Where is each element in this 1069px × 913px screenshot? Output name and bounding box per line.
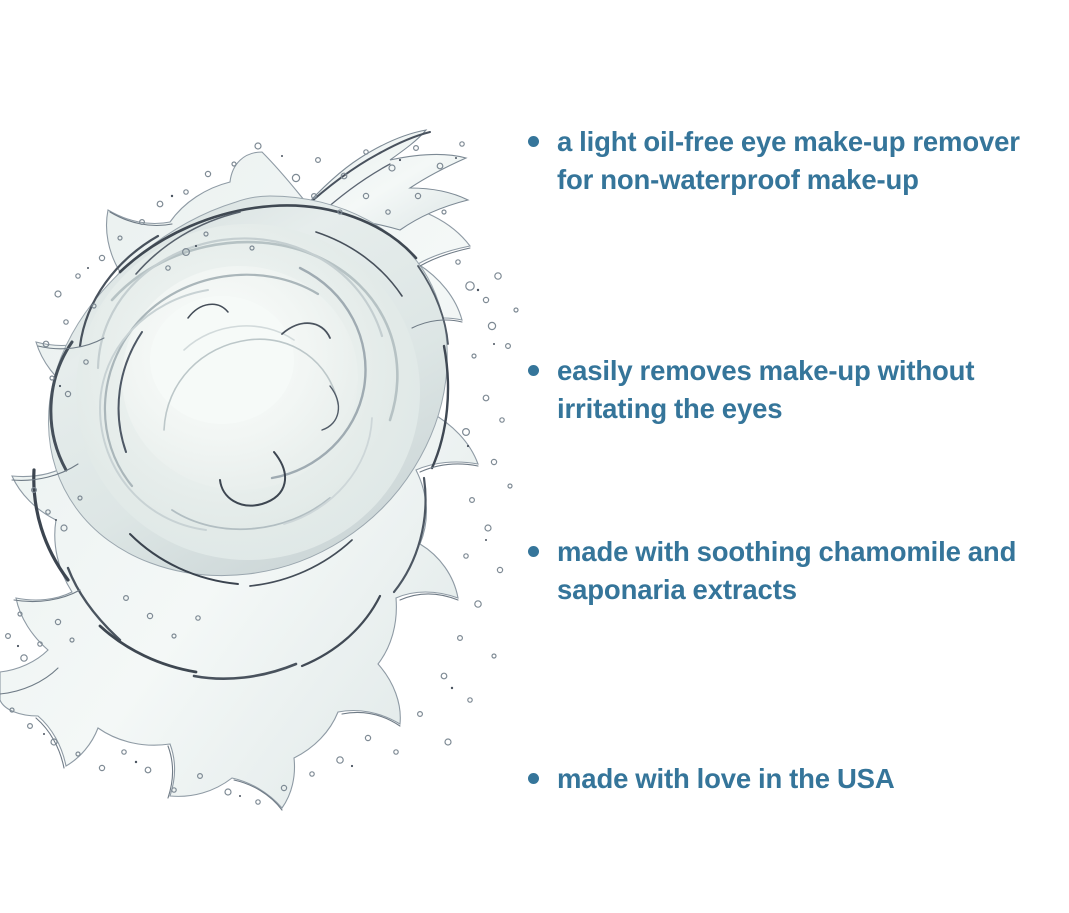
benefit-text: easily removes make-up without irritatin… bbox=[557, 352, 1048, 428]
benefit-text: made with love in the USA bbox=[557, 760, 1048, 798]
benefit-text: a light oil-free eye make-up remover for… bbox=[557, 123, 1048, 199]
list-item: made with soothing chamomile and saponar… bbox=[528, 533, 1048, 609]
water-splash-panel bbox=[0, 0, 535, 913]
product-feature-graphic: a light oil-free eye make-up remover for… bbox=[0, 0, 1069, 913]
splash-pool-center-highlight bbox=[150, 296, 294, 424]
bullet-dot-icon bbox=[528, 365, 539, 376]
list-item: a light oil-free eye make-up remover for… bbox=[528, 123, 1048, 199]
bullet-dot-icon bbox=[528, 773, 539, 784]
benefits-list: a light oil-free eye make-up remover for… bbox=[528, 0, 1069, 913]
bullet-dot-icon bbox=[528, 136, 539, 147]
bullet-dot-icon bbox=[528, 546, 539, 557]
water-splash-image bbox=[0, 0, 535, 913]
benefit-text: made with soothing chamomile and saponar… bbox=[557, 533, 1048, 609]
list-item: made with love in the USA bbox=[528, 760, 1048, 798]
splash-crown-body bbox=[0, 130, 478, 808]
list-item: easily removes make-up without irritatin… bbox=[528, 352, 1048, 428]
